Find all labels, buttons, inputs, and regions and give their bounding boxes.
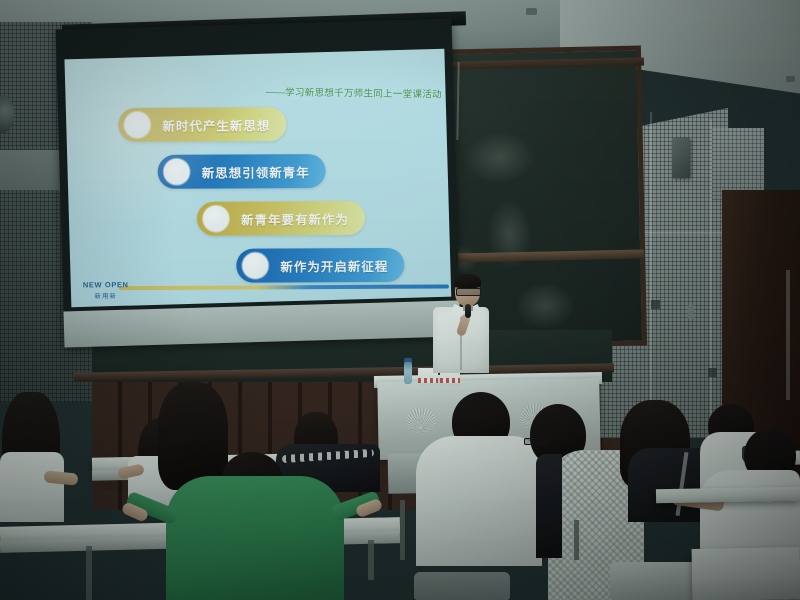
projection-screen-frame: ——学习新思想千万师生同上一堂课活动 新时代产生新思想 新思想引领新青年 新青年… — [56, 19, 461, 348]
desk-leg — [574, 520, 579, 560]
slide-header-text: ——学习新思想千万师生同上一堂课活动 — [265, 84, 442, 100]
student-hair — [158, 382, 228, 490]
projection-screen-surface: ——学习新思想千万师生同上一堂课活动 新时代产生新思想 新思想引领新青年 新青年… — [64, 49, 451, 308]
ceiling-sprinkler-icon — [786, 76, 795, 82]
slide-logo-main: NEW OPEN — [83, 280, 129, 289]
desk-row-front-right — [692, 547, 800, 600]
wall-outlet-icon — [651, 300, 660, 309]
desk-leg — [400, 500, 405, 560]
glasses-icon — [456, 288, 481, 296]
slide-bullet-label-3: 新青年要有新作为 — [241, 209, 349, 229]
student-collar-dark — [536, 454, 562, 558]
slide-bullet-pill-1: 新时代产生新思想 — [118, 107, 286, 142]
slide-bullet-label-2: 新思想引领新青年 — [202, 162, 310, 182]
bullet-circle-icon — [242, 253, 268, 279]
presenter-hair — [454, 274, 481, 288]
lecture-hall-photo: ——学习新思想千万师生同上一堂课活动 新时代产生新思想 新思想引领新青年 新青年… — [0, 0, 800, 600]
panel-seam — [710, 120, 712, 438]
slide-logo: NEW OPEN 新用新 — [83, 280, 129, 300]
ceiling-vent-icon — [526, 8, 537, 15]
door-frame-edge — [786, 270, 790, 400]
bullet-circle-icon — [164, 159, 190, 185]
tissue-box-band — [418, 378, 438, 383]
student-torso-green — [166, 476, 344, 600]
water-bottle — [404, 362, 412, 384]
glasses-icon — [524, 438, 548, 445]
slide-logo-sub: 新用新 — [83, 290, 129, 300]
slide-bullet-label-4: 新作为开启新征程 — [280, 255, 388, 275]
bullet-circle-icon — [124, 112, 150, 138]
bullet-circle-icon — [203, 206, 229, 232]
slide-baseline-bar — [119, 284, 449, 290]
wall-outlet-icon — [708, 368, 717, 377]
wall-outlet-icon — [688, 305, 694, 319]
slide-bullet-pill-3: 新青年要有新作为 — [197, 201, 365, 236]
tissue-box-band — [440, 378, 460, 383]
wall-speaker-box-icon — [672, 138, 690, 178]
student-torso — [416, 436, 542, 566]
slide-bullet-label-1: 新时代产生新思想 — [162, 115, 270, 135]
presentation-slide: ——学习新思想千万师生同上一堂课活动 新时代产生新思想 新思想引领新青年 新青年… — [64, 49, 451, 308]
chair-back — [414, 572, 510, 600]
slide-bullet-pill-4: 新作为开启新征程 — [236, 248, 404, 283]
student-torso — [0, 452, 64, 522]
lectern-medallion-icon — [406, 407, 436, 434]
desk-leg — [86, 546, 92, 600]
slide-bullet-pill-2: 新思想引领新青年 — [158, 154, 326, 189]
panel-seam — [650, 112, 652, 438]
microphone-icon — [465, 304, 471, 318]
desk-leg — [368, 540, 374, 580]
desk-right-upper — [656, 487, 800, 504]
